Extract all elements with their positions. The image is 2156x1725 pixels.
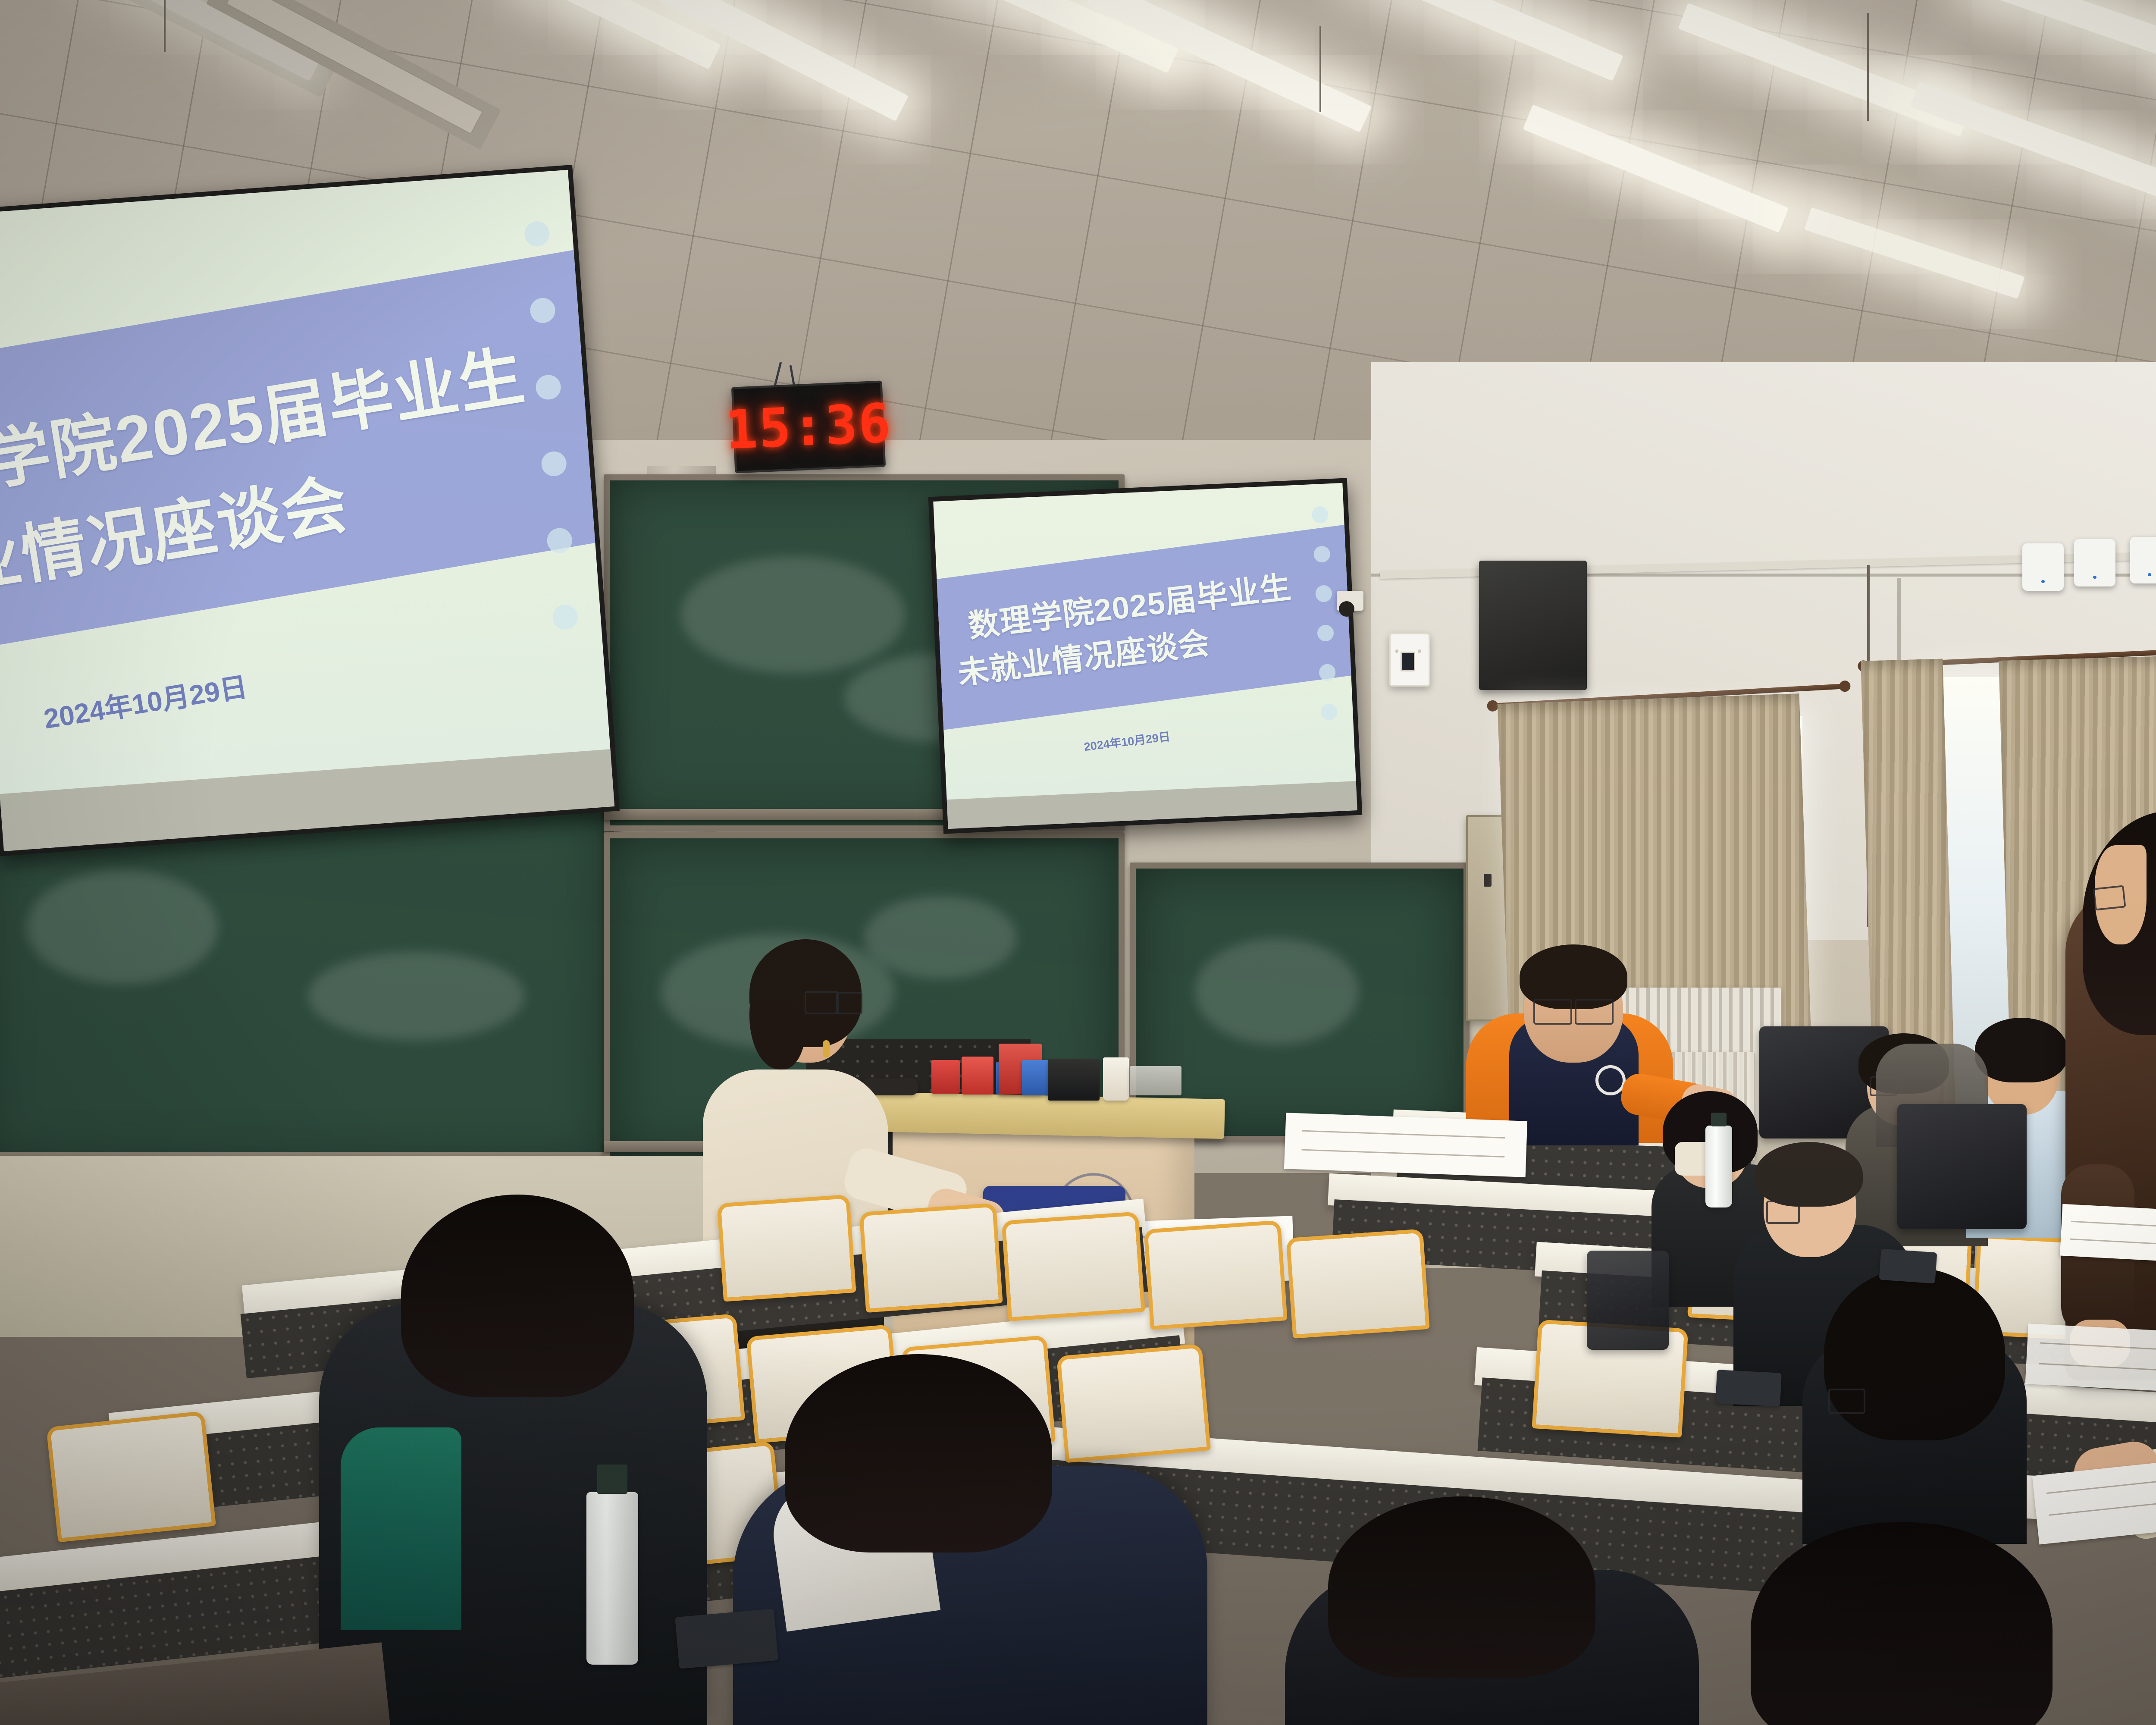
lecture-hall-photo: 数理学院2025届毕业生 未就业情况座谈会 2024年10月29日 数理学院20… <box>0 0 2156 1725</box>
wifi-access-point <box>2130 537 2156 583</box>
smartphone[interactable] <box>1715 1370 1782 1407</box>
tray-item <box>1130 1066 1181 1095</box>
glasses-icon <box>2093 885 2126 910</box>
student-hair <box>1824 1268 2005 1440</box>
handout-papers[interactable] <box>2025 1324 2156 1393</box>
glasses-icon <box>805 991 839 1014</box>
handout-papers[interactable] <box>2060 1204 2156 1263</box>
student-hair <box>1975 1018 2068 1082</box>
slide-right: 数理学院2025届毕业生 未就业情况座谈会 2024年10月29日 <box>933 483 1357 829</box>
chalk-box-red[interactable] <box>931 1060 960 1094</box>
lectern-top <box>853 1091 1225 1139</box>
seat-back[interactable] <box>1001 1211 1145 1321</box>
water-bottle[interactable] <box>586 1492 638 1665</box>
slide-date: 2024年10月29日 <box>41 665 250 737</box>
student-hair <box>1755 1142 1863 1207</box>
hoodie-student-hair <box>401 1195 634 1397</box>
left-screen[interactable]: 数理学院2025届毕业生 未就业情况座谈会 2024年10月29日 <box>0 165 620 856</box>
necklace-pendant <box>823 1040 830 1057</box>
water-bottle[interactable] <box>1705 1126 1732 1207</box>
student-hair <box>1328 1496 1595 1678</box>
eraser[interactable] <box>1048 1059 1100 1101</box>
smartphone[interactable] <box>675 1609 778 1669</box>
slide-left: 数理学院2025届毕业生 未就业情况座谈会 2024年10月29日 <box>0 170 614 851</box>
smartphone[interactable] <box>1879 1249 1937 1284</box>
light-hanger-wire <box>164 0 166 52</box>
glasses-icon <box>1766 1201 1800 1224</box>
hoodie-student-teal-panel <box>341 1427 461 1630</box>
seat-back[interactable] <box>859 1203 1003 1313</box>
seat-back[interactable] <box>1286 1229 1429 1339</box>
wifi-access-point <box>2074 539 2115 586</box>
glasses-icon <box>836 992 862 1014</box>
wall-speaker <box>1479 561 1587 690</box>
paper-cup[interactable] <box>1103 1057 1129 1101</box>
glasses-icon <box>1828 1389 1865 1414</box>
slide-date: 2024年10月29日 <box>1083 727 1171 754</box>
vest-logo <box>1595 1065 1626 1095</box>
seat-back[interactable] <box>1144 1220 1287 1330</box>
wifi-access-point <box>2022 543 2064 591</box>
chalk-box-red[interactable] <box>962 1057 993 1095</box>
glasses-icon <box>1575 999 1614 1025</box>
seat-back[interactable] <box>46 1411 216 1543</box>
longhair-student-hair <box>1751 1522 2053 1725</box>
security-camera-icon <box>1337 591 1363 611</box>
seat-back[interactable] <box>717 1195 856 1302</box>
laptop-bag[interactable] <box>1897 1104 2027 1229</box>
laptop-bag[interactable] <box>1587 1251 1669 1350</box>
glasses-icon <box>1533 999 1572 1025</box>
light-hanger-wire <box>1319 26 1321 112</box>
board-right <box>1136 869 1463 1136</box>
right-screen[interactable]: 数理学院2025届毕业生 未就业情况座谈会 2024年10月29日 <box>928 478 1362 834</box>
handout-papers[interactable] <box>1284 1113 1527 1177</box>
light-hanger-wire <box>1867 13 1869 121</box>
wall-control-panel <box>1389 633 1430 687</box>
seat-back[interactable] <box>1056 1344 1211 1463</box>
navy-student-hair <box>785 1354 1052 1552</box>
clock-time: 15:36 <box>724 392 893 462</box>
led-wall-clock: 15:36 <box>731 380 886 473</box>
